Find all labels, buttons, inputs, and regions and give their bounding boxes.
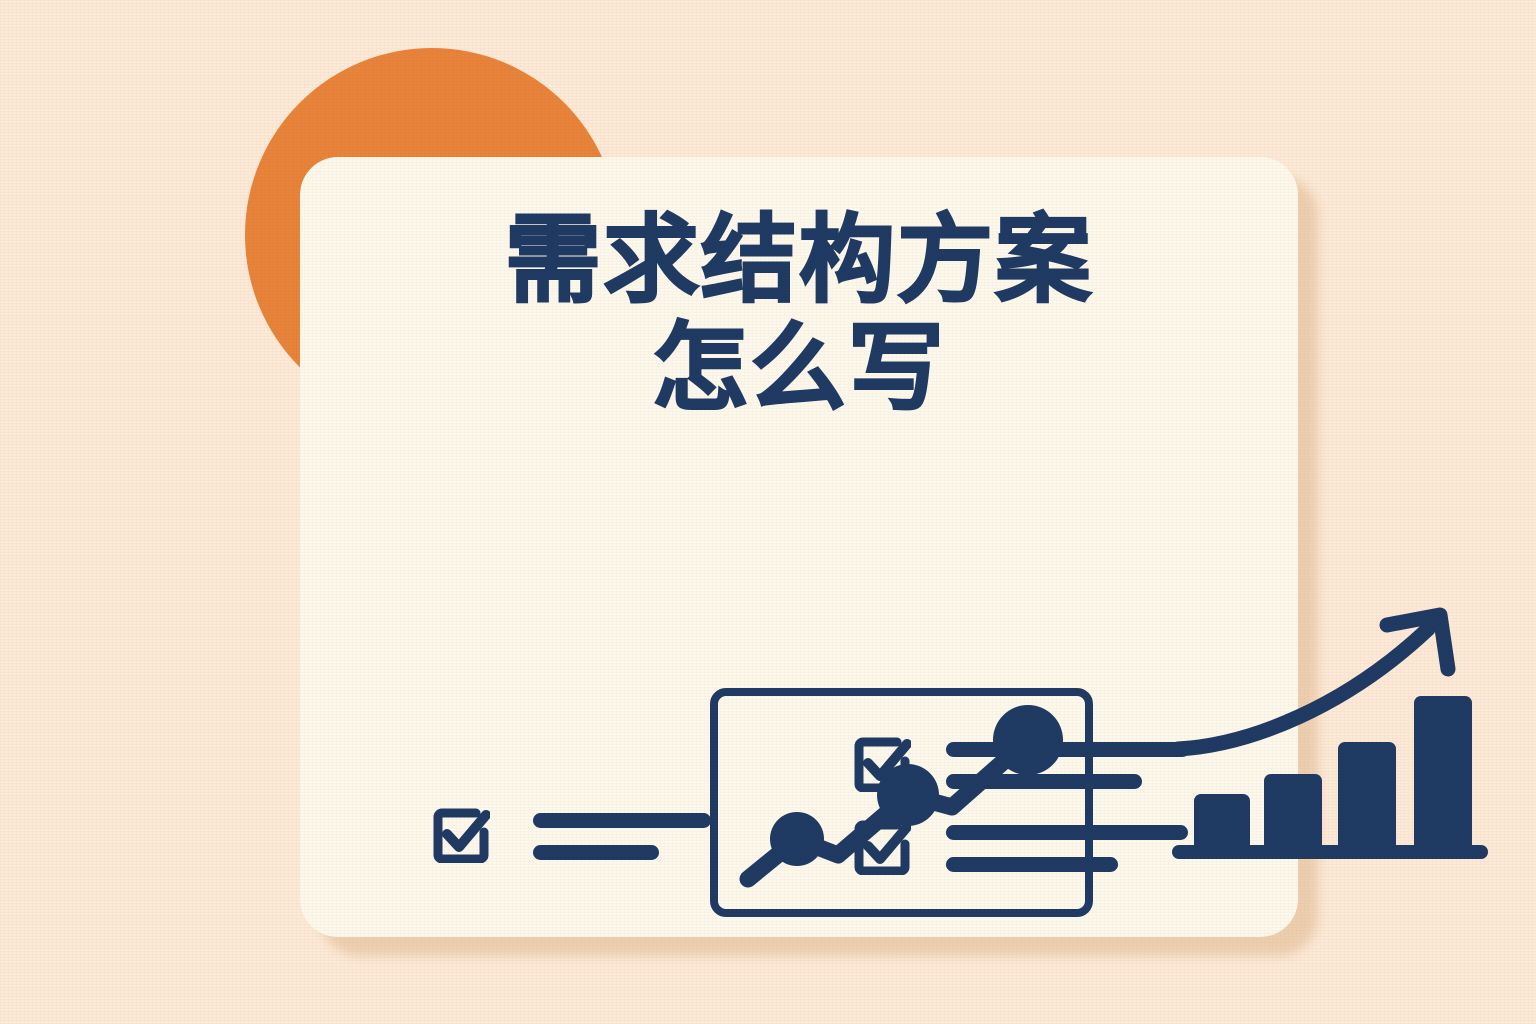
bar-2	[1264, 774, 1322, 851]
poster-canvas: 需求结构方案 怎么写	[0, 0, 1536, 1024]
checkbox-checked-icon[interactable]	[853, 734, 911, 792]
page-title: 需求结构方案 怎么写	[300, 207, 1298, 424]
page-title-line-2: 怎么写	[300, 315, 1298, 423]
page-title-line-1: 需求结构方案	[300, 207, 1298, 315]
checkbox-checked-icon[interactable]	[853, 817, 911, 875]
bar-3	[1338, 742, 1396, 851]
list-item-line	[533, 845, 659, 860]
list-item-line	[946, 825, 1188, 840]
bar-chart-growth-icon	[1160, 597, 1500, 867]
list-item-line	[946, 742, 1190, 757]
bar-4	[1414, 696, 1472, 851]
checkbox-checked-icon[interactable]	[432, 805, 490, 863]
list-item-line	[946, 774, 1142, 789]
line-chart-marker-1	[770, 812, 824, 866]
line-chart-marker-3	[993, 705, 1063, 775]
growth-arrow-curve	[1178, 629, 1428, 749]
content-card: 需求结构方案 怎么写	[300, 157, 1298, 937]
list-item-line	[946, 857, 1118, 872]
list-item-line	[533, 813, 711, 828]
bar-1	[1194, 794, 1250, 851]
line-chart-icon	[700, 678, 1110, 933]
